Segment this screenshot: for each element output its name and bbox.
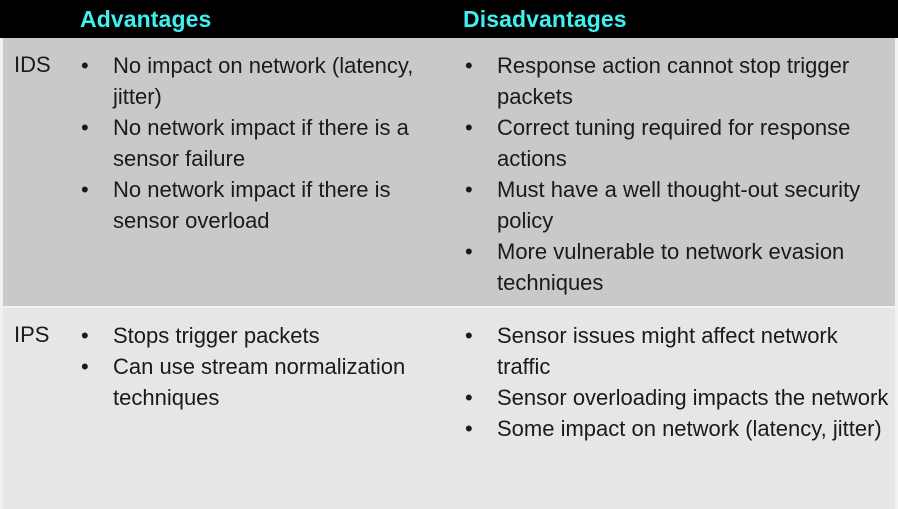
cell-ips-advantages: • Stops trigger packets • Can use stream… bbox=[79, 320, 439, 413]
bullet-icon: • bbox=[465, 112, 499, 143]
table-row-ips: IPS • Stops trigger packets • Can use st… bbox=[0, 306, 898, 509]
column-header-advantages: Advantages bbox=[80, 0, 211, 38]
list-item: • No network impact if there is sensor o… bbox=[79, 174, 439, 236]
row-label-ips: IPS bbox=[14, 322, 49, 348]
list-item-text: No network impact if there is a sensor f… bbox=[113, 112, 439, 174]
list-item-text: Stops trigger packets bbox=[113, 320, 439, 351]
bullet-icon: • bbox=[81, 351, 115, 382]
table-row-ids: IDS • No impact on network (latency, jit… bbox=[0, 38, 898, 306]
bullet-icon: • bbox=[465, 413, 499, 444]
column-header-disadvantages: Disadvantages bbox=[463, 0, 627, 38]
list-item: • Correct tuning required for response a… bbox=[463, 112, 893, 174]
bullet-icon: • bbox=[465, 50, 499, 81]
list-item-text: Correct tuning required for response act… bbox=[497, 112, 893, 174]
bullet-icon: • bbox=[465, 174, 499, 205]
table-header-row: Advantages Disadvantages bbox=[0, 0, 898, 38]
list-item-text: No network impact if there is sensor ove… bbox=[113, 174, 439, 236]
comparison-table: Advantages Disadvantages IDS • No impact… bbox=[0, 0, 898, 509]
list-item-text: Sensor overloading impacts the network bbox=[497, 382, 893, 413]
list-item: • Some impact on network (latency, jitte… bbox=[463, 413, 893, 444]
list-item: • Can use stream normalization technique… bbox=[79, 351, 439, 413]
list-item: • No impact on network (latency, jitter) bbox=[79, 50, 439, 112]
list-item-text: Must have a well thought-out security po… bbox=[497, 174, 893, 236]
bullet-icon: • bbox=[465, 320, 499, 351]
list-item-text: Some impact on network (latency, jitter) bbox=[497, 413, 893, 444]
list-item-text: Sensor issues might affect network traff… bbox=[497, 320, 893, 382]
list-item-text: Can use stream normalization techniques bbox=[113, 351, 439, 413]
cell-ids-disadvantages: • Response action cannot stop trigger pa… bbox=[463, 50, 893, 298]
list-item: • Sensor overloading impacts the network bbox=[463, 382, 893, 413]
bullet-icon: • bbox=[81, 112, 115, 143]
list-item-text: Response action cannot stop trigger pack… bbox=[497, 50, 893, 112]
row-label-ids: IDS bbox=[14, 52, 51, 78]
cell-ids-advantages: • No impact on network (latency, jitter)… bbox=[79, 50, 439, 236]
list-item: • Stops trigger packets bbox=[79, 320, 439, 351]
cell-ips-disadvantages: • Sensor issues might affect network tra… bbox=[463, 320, 893, 444]
list-item: • Must have a well thought-out security … bbox=[463, 174, 893, 236]
bullet-icon: • bbox=[465, 236, 499, 267]
bullet-icon: • bbox=[81, 320, 115, 351]
list-item: • No network impact if there is a sensor… bbox=[79, 112, 439, 174]
list-item-text: More vulnerable to network evasion techn… bbox=[497, 236, 893, 298]
bullet-icon: • bbox=[81, 50, 115, 81]
bullet-icon: • bbox=[465, 382, 499, 413]
list-item-text: No impact on network (latency, jitter) bbox=[113, 50, 439, 112]
list-item: • More vulnerable to network evasion tec… bbox=[463, 236, 893, 298]
list-item: • Response action cannot stop trigger pa… bbox=[463, 50, 893, 112]
bullet-icon: • bbox=[81, 174, 115, 205]
list-item: • Sensor issues might affect network tra… bbox=[463, 320, 893, 382]
